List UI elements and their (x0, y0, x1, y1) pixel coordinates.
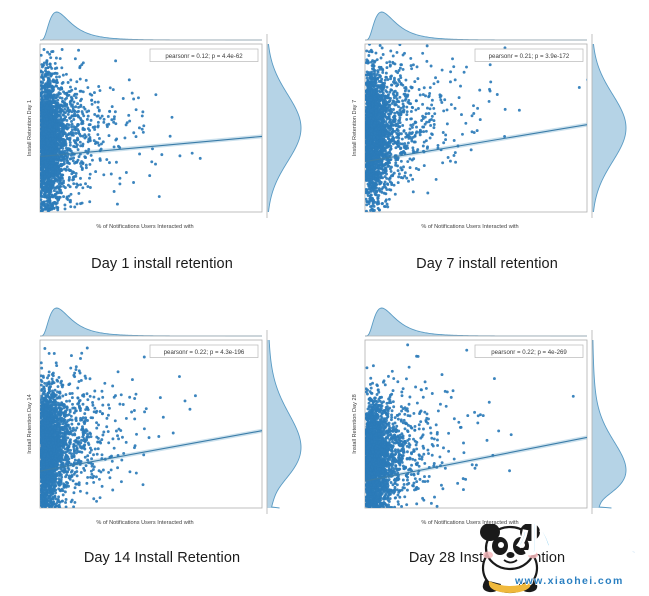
pearson-annotation: pearsonr = 0.21; p = 3.9e-172 (489, 53, 570, 60)
y-axis-label: Install Retention Day 1 (27, 100, 33, 156)
panel-caption-day-7: Day 7 install retention (325, 256, 649, 272)
pearson-annotation: pearsonr = 0.12; p = 4.4e-62 (165, 53, 243, 60)
panel-caption-day-28: Day 28 Install Retention (325, 550, 649, 566)
panel-day-14: pearsonr = 0.22; p = 4.3e-196% of Notifi… (0, 296, 324, 591)
y-axis-label: Install Retention Day 28 (352, 394, 358, 453)
x-axis-label: % of Notifications Users Interacted with (421, 520, 518, 526)
y-axis-label: Install Retention Day 7 (352, 100, 358, 156)
y-axis-label: Install Retention Day 14 (27, 394, 33, 453)
pearson-annotation: pearsonr = 0.22; p = 4e-269 (491, 349, 567, 356)
jointplot-svg-day-28: pearsonr = 0.22; p = 4e-269% of Notifica… (339, 304, 635, 542)
jointplot-day-7: pearsonr = 0.21; p = 3.9e-172% of Notifi… (339, 8, 635, 246)
x-axis-label: % of Notifications Users Interacted with (96, 224, 193, 230)
panel-caption-day-1: Day 1 install retention (0, 256, 324, 272)
jointplot-svg-day-1: pearsonr = 0.12; p = 4.4e-62% of Notific… (14, 8, 310, 246)
panel-day-7: pearsonr = 0.21; p = 3.9e-172% of Notifi… (325, 0, 649, 295)
x-axis-label: % of Notifications Users Interacted with (96, 520, 193, 526)
panel-day-1: pearsonr = 0.12; p = 4.4e-62% of Notific… (0, 0, 324, 295)
x-axis-label: % of Notifications Users Interacted with (421, 224, 518, 230)
jointplot-day-14: pearsonr = 0.22; p = 4.3e-196% of Notifi… (14, 304, 310, 542)
pearson-annotation: pearsonr = 0.22; p = 4.3e-196 (164, 349, 245, 356)
jointplot-day-1: pearsonr = 0.12; p = 4.4e-62% of Notific… (14, 8, 310, 246)
jointplot-day-28: pearsonr = 0.22; p = 4e-269% of Notifica… (339, 304, 635, 542)
jointplot-svg-day-14: pearsonr = 0.22; p = 4.3e-196% of Notifi… (14, 304, 310, 542)
figure-grid: pearsonr = 0.12; p = 4.4e-62% of Notific… (0, 0, 649, 590)
jointplot-svg-day-7: pearsonr = 0.21; p = 3.9e-172% of Notifi… (339, 8, 635, 246)
panel-caption-day-14: Day 14 Install Retention (0, 550, 324, 566)
panel-day-28: pearsonr = 0.22; p = 4e-269% of Notifica… (325, 296, 649, 591)
